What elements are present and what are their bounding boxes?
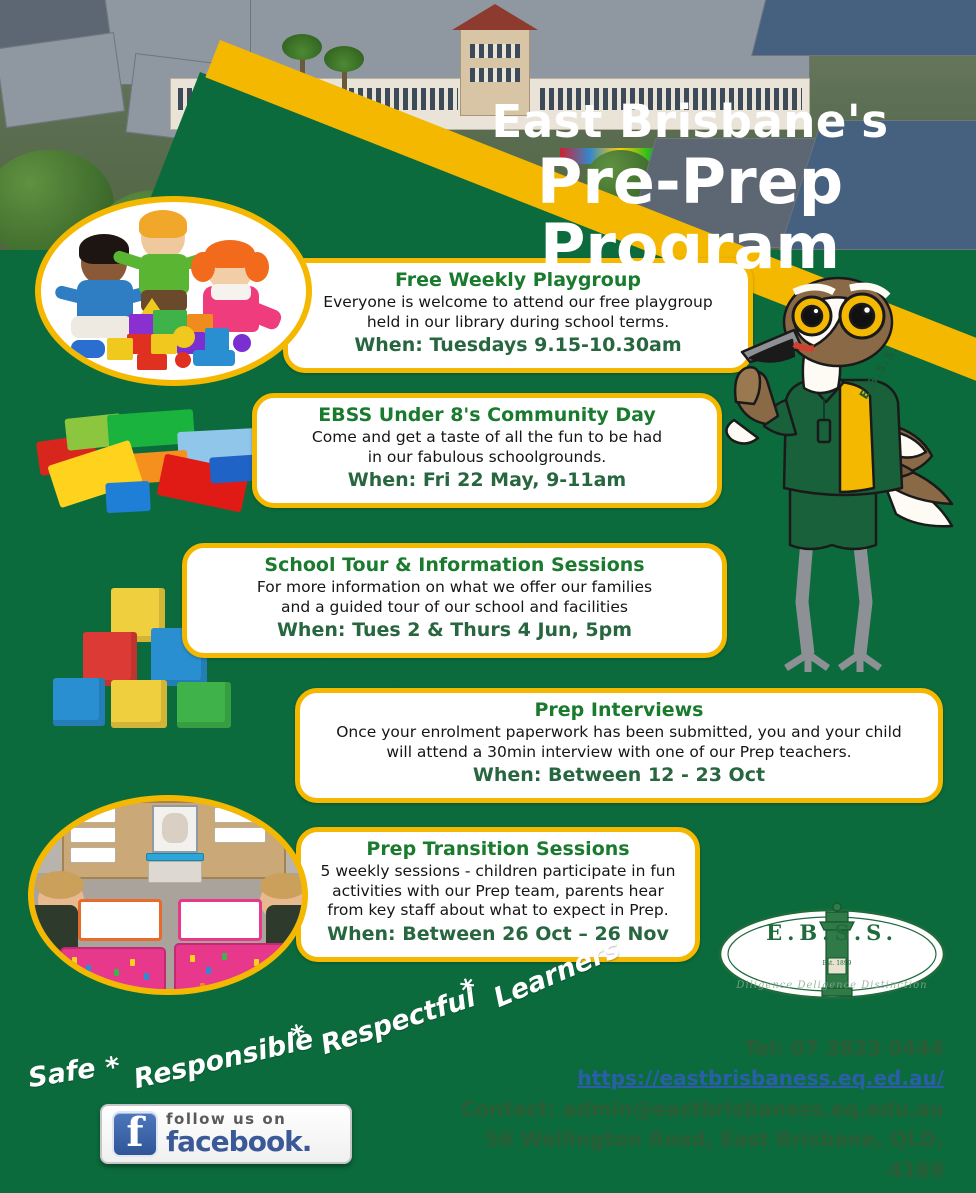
card-body-line: For more information on what we offer ou…	[201, 578, 708, 598]
hand-poster	[162, 813, 188, 843]
cube	[53, 678, 105, 726]
magnetic-letter	[254, 959, 259, 966]
motto-word: Safe	[26, 1053, 98, 1094]
toy-block	[137, 354, 167, 370]
child-hair	[36, 871, 84, 899]
activity-mat	[178, 899, 262, 941]
contact-email[interactable]: Contact: admin@eastbrisbaness.eq.edu.au	[424, 1094, 944, 1124]
card-body-line: activities with our Prep team, parents h…	[315, 882, 681, 902]
letter-card	[70, 807, 116, 823]
card-when: When: Between 12 - 23 Oct	[314, 763, 924, 788]
card-body-line: Come and get a taste of all the fun to b…	[271, 428, 703, 448]
bush-stone-curlew-mascot: E.B.S.S.	[690, 272, 960, 722]
facebook-icon	[112, 1111, 158, 1157]
title-line-1: East Brisbane's	[420, 98, 960, 145]
toy-block	[193, 350, 235, 366]
lego-brick	[105, 481, 151, 513]
magnetic-letter	[108, 983, 113, 990]
facebook-wordmark: facebook.	[166, 1128, 311, 1156]
cube	[111, 680, 167, 728]
motto-word: Responsible	[131, 1024, 316, 1095]
contact-website-link[interactable]: https://eastbrisbaness.eq.ed.au/	[424, 1063, 944, 1093]
child-hair	[139, 210, 187, 238]
letter-tray	[60, 947, 166, 995]
magnetic-letter	[80, 979, 85, 986]
magnetic-letter	[190, 955, 195, 962]
magnetic-letter	[86, 965, 91, 972]
toy-block	[71, 340, 105, 358]
crest-initials: E.B.S.S.	[766, 920, 898, 945]
child-hair	[260, 873, 306, 899]
toy-block	[129, 314, 155, 336]
magnetic-letter	[206, 967, 211, 974]
card-body-line: and a guided tour of our school and faci…	[201, 598, 708, 618]
card-heading: EBSS Under 8's Community Day	[271, 404, 703, 428]
child-pigtail	[191, 252, 215, 282]
activity-mat	[78, 899, 162, 941]
child-legs	[71, 316, 133, 338]
classroom-activity-photo	[28, 795, 308, 995]
cube	[177, 682, 231, 728]
child-torso	[139, 254, 189, 294]
card-heading: School Tour & Information Sessions	[201, 554, 708, 578]
magnetic-letter	[130, 959, 135, 966]
info-card-under8s-day[interactable]: EBSS Under 8's Community Day Come and ge…	[252, 393, 722, 508]
magnetic-letter	[114, 969, 119, 976]
toy-ball	[233, 334, 251, 352]
card-when: When: Fri 22 May, 9-11am	[271, 468, 703, 493]
card-body-line: held in our library during school terms.	[302, 313, 734, 333]
magnetic-letter	[144, 973, 149, 980]
contact-phone: Tel: 07 3823 0444	[424, 1033, 944, 1063]
crest-illustration: Est. 1899 E.B.S.S. Diligence Deligence D…	[716, 900, 948, 1002]
card-when: When: Between 26 Oct – 26 Nov	[315, 922, 681, 947]
magnetic-letter	[72, 957, 77, 964]
magnetic-letter	[200, 983, 205, 990]
magnetic-letter	[100, 955, 105, 962]
info-card-prep-transition[interactable]: Prep Transition Sessions 5 weekly sessio…	[296, 827, 700, 962]
motto-separator: *	[103, 1051, 123, 1084]
lego-bricks-image	[30, 408, 260, 528]
letter-card	[214, 807, 266, 823]
contact-details: Tel: 07 3823 0444 https://eastbrisbaness…	[424, 1033, 944, 1185]
crest-motto: Diligence Deligence Distinction	[735, 980, 927, 991]
card-when: When: Tuesdays 9.15-10.30am	[302, 333, 734, 358]
card-heading: Prep Transition Sessions	[315, 838, 681, 862]
storage-lid	[146, 853, 204, 861]
toy-ball	[175, 352, 191, 368]
card-when: When: Tues 2 & Thurs 4 Jun, 5pm	[201, 618, 708, 643]
title-line-2: Pre-Prep Program	[420, 149, 960, 279]
contact-address: 56 Wellington Road, East Brisbane, QLD, …	[424, 1124, 944, 1185]
children-playing-photo	[35, 196, 312, 386]
card-body-line: in our fabulous schoolgrounds.	[271, 448, 703, 468]
info-card-school-tour[interactable]: School Tour & Information Sessions For m…	[182, 543, 727, 658]
card-body-line: 5 weekly sessions - children participate…	[315, 862, 681, 882]
facebook-text-group: follow us on facebook.	[166, 1112, 311, 1156]
mascot-illustration: E.B.S.S.	[690, 272, 960, 722]
letter-card	[70, 847, 116, 863]
poster-root: East Brisbane's Pre-Prep Program	[0, 0, 976, 1193]
magnetic-letter	[222, 953, 227, 960]
facebook-follow-badge[interactable]: follow us on facebook.	[100, 1104, 352, 1164]
poster-title: East Brisbane's Pre-Prep Program	[420, 98, 960, 279]
toy-block	[107, 338, 133, 360]
card-body-line: Everyone is welcome to attend our free p…	[302, 293, 734, 313]
storage-box	[148, 861, 202, 883]
crest-est-text: Est. 1899	[823, 960, 852, 967]
magnetic-letter	[238, 971, 243, 978]
letter-card	[70, 827, 116, 843]
school-crest: Est. 1899 E.B.S.S. Diligence Deligence D…	[716, 900, 948, 1002]
toy-ball	[173, 326, 195, 348]
letter-card	[214, 827, 266, 843]
child-pigtail	[245, 252, 269, 282]
card-body-line: will attend a 30min interview with one o…	[314, 743, 924, 763]
child-collar	[211, 284, 251, 300]
card-body-line: from key staff about what to expect in P…	[315, 901, 681, 921]
card-body-line: Once your enrolment paperwork has been s…	[314, 723, 924, 743]
magnetic-letter	[266, 977, 271, 984]
letter-tray	[174, 943, 292, 995]
